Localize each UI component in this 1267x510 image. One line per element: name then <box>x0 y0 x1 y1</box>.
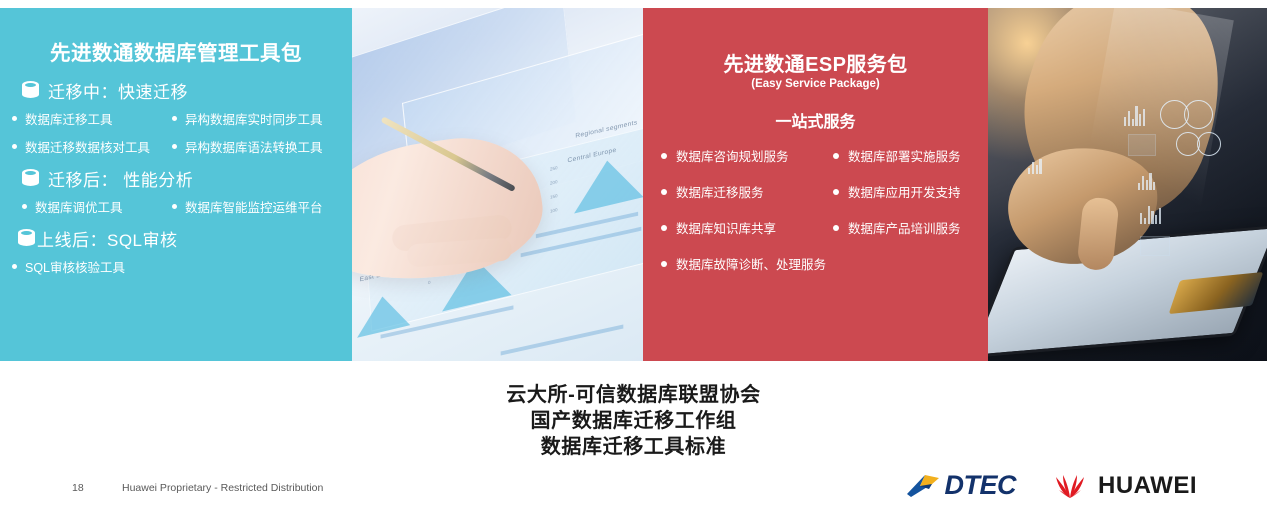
list-item: 数据库应用开发支持 <box>833 182 983 201</box>
bullet-dot-icon <box>12 264 17 269</box>
bullet-dot-icon <box>172 116 177 121</box>
slide-canvas: 先进数通数据库管理工具包 迁移中：快速迁移 数据库迁移工具 异构数据库实时同步工… <box>0 0 1267 510</box>
bullet-dot-icon <box>12 116 17 121</box>
database-icon <box>22 169 39 189</box>
bullet-dot-icon <box>833 225 839 231</box>
dtec-logo: DTEC <box>905 470 1017 501</box>
section-heading-label: 迁移后： 性能分析 <box>48 166 193 191</box>
list-item-label: 异构数据库实时同步工具 <box>185 109 323 128</box>
caption-block: 云大所-可信数据库联盟协会 国产数据库迁移工作组 数据库迁移工具标准 <box>0 382 1267 460</box>
bullet-dot-icon <box>172 204 177 209</box>
list-item: 数据库咨询规划服务 <box>661 146 833 165</box>
database-icon <box>22 81 39 101</box>
list-item-label: 数据库产品培训服务 <box>848 218 961 237</box>
list-item: 数据库产品培训服务 <box>833 218 983 237</box>
huawei-logo-text: HUAWEI <box>1098 472 1197 500</box>
list-item: 数据库迁移服务 <box>661 182 833 201</box>
list-item: 数据迁移数据核对工具 <box>12 137 172 156</box>
chart-bar <box>501 325 624 356</box>
banner-band: 先进数通数据库管理工具包 迁移中：快速迁移 数据库迁移工具 异构数据库实时同步工… <box>0 8 1267 361</box>
list-item-label: 数据库调优工具 <box>35 197 123 216</box>
bullet-dot-icon <box>661 261 667 267</box>
bullet-dot-icon <box>22 204 27 209</box>
list-item-label: 数据库迁移服务 <box>676 182 764 201</box>
dtec-logo-text: DTEC <box>945 470 1017 501</box>
list-item: 数据库智能监控运维平台 <box>172 197 354 216</box>
list-item-label: 数据库智能监控运维平台 <box>185 197 323 216</box>
bullet-dot-icon <box>661 189 667 195</box>
service-bullet-grid: 数据库咨询规划服务 数据库部署实施服务 数据库迁移服务 数据库应用开发支持 数据… <box>661 146 974 273</box>
list-item: 数据库知识库共享 <box>661 218 833 237</box>
section-heading-migration-after: 迁移后： 性能分析 <box>22 166 340 191</box>
list-item: 数据库部署实施服务 <box>833 146 983 165</box>
right-photo-tablet <box>988 8 1267 361</box>
list-item-label: 异构数据库语法转换工具 <box>185 137 323 156</box>
list-item-label: 数据库应用开发支持 <box>848 182 961 201</box>
caption-line-2: 国产数据库迁移工作组 <box>0 408 1267 434</box>
chart-tick: 0 <box>428 280 431 285</box>
bullet-dot-icon <box>172 144 177 149</box>
list-item-label: 数据库咨询规划服务 <box>676 146 789 165</box>
list-item: 数据库迁移工具 <box>12 109 172 128</box>
bullet-dot-icon <box>833 189 839 195</box>
right-panel-title: 先进数通ESP服务包 <box>657 48 974 77</box>
right-panel-subtitle: (Easy Service Package) <box>657 78 974 90</box>
list-item-label: SQL审核核验工具 <box>25 257 125 276</box>
left-panel-title: 先进数通数据库管理工具包 <box>12 36 340 66</box>
bullet-dot-icon <box>661 225 667 231</box>
list-item-label: 数据迁移数据核对工具 <box>25 137 150 156</box>
list-item-label: 数据库知识库共享 <box>676 218 776 237</box>
bullet-dot-icon <box>661 153 667 159</box>
right-panel-section-heading: 一站式服务 <box>657 108 974 132</box>
list-item: 数据库故障诊断、处理服务 <box>661 254 983 273</box>
page-number: 18 <box>72 482 84 494</box>
section-heading-migration-during: 迁移中：快速迁移 <box>22 78 340 103</box>
left-teal-panel: 先进数通数据库管理工具包 迁移中：快速迁移 数据库迁移工具 异构数据库实时同步工… <box>0 8 352 361</box>
section-heading-post-launch: 上线后：SQL审核 <box>18 226 340 251</box>
dtec-mark-icon <box>905 472 943 500</box>
list-item-label: 数据库部署实施服务 <box>848 146 961 165</box>
bullet-grid-migration-after: 数据库调优工具 数据库智能监控运维平台 <box>12 197 340 216</box>
bullet-grid-migration-during: 数据库迁移工具 异构数据库实时同步工具 数据迁移数据核对工具 异构数据库语法转换… <box>12 109 340 156</box>
bullet-dot-icon <box>12 144 17 149</box>
section-heading-label: 上线后：SQL审核 <box>37 226 178 251</box>
list-item: 异构数据库实时同步工具 <box>172 109 354 128</box>
right-red-panel: 先进数通ESP服务包 (Easy Service Package) 一站式服务 … <box>643 8 988 361</box>
huawei-flower-icon <box>1050 472 1090 500</box>
list-item: 异构数据库语法转换工具 <box>172 137 354 156</box>
list-item: 数据库调优工具 <box>12 197 172 216</box>
logo-row: DTEC HUAWEI <box>905 470 1198 501</box>
list-item: SQL审核核验工具 <box>12 257 172 276</box>
bullet-dot-icon <box>833 153 839 159</box>
footer-confidentiality-note: Huawei Proprietary - Restricted Distribu… <box>122 482 323 494</box>
bullet-grid-post-launch: SQL审核核验工具 <box>12 257 340 276</box>
database-icon <box>18 229 35 249</box>
caption-line-1: 云大所-可信数据库联盟协会 <box>0 382 1267 408</box>
huawei-logo: HUAWEI <box>1050 472 1197 500</box>
center-photo-charts: Regional segments Central Europe West Eu… <box>352 8 643 361</box>
section-heading-label: 迁移中：快速迁移 <box>48 78 188 103</box>
hud-bar-chart-icon <box>1028 158 1042 174</box>
list-item-label: 数据库迁移工具 <box>25 109 113 128</box>
list-item-label: 数据库故障诊断、处理服务 <box>676 254 826 273</box>
caption-line-3: 数据库迁移工具标准 <box>0 434 1267 460</box>
